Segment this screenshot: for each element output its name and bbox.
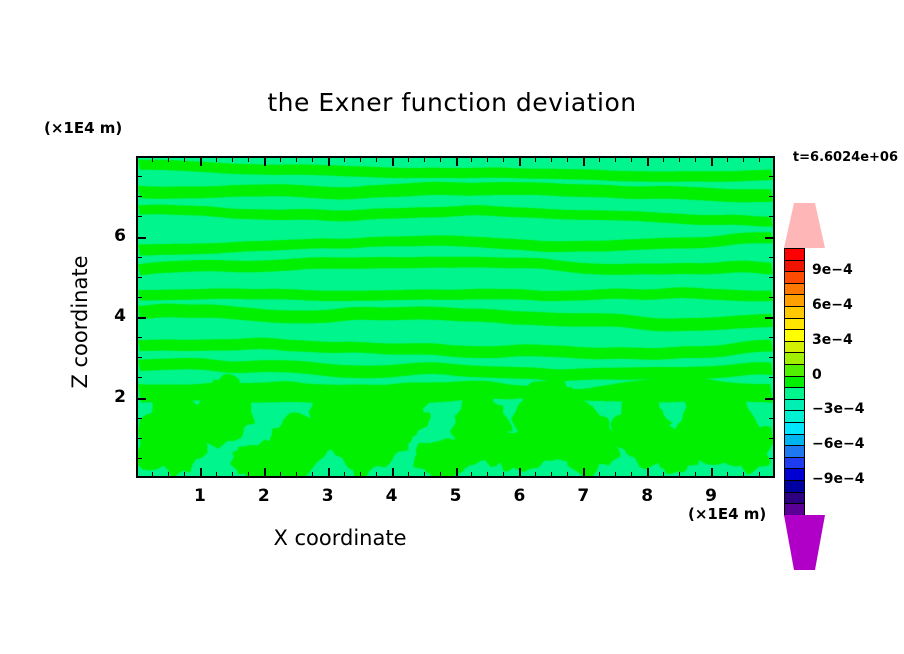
y-minor-tick-right: [769, 257, 774, 258]
colorbar-label: 6e−4: [812, 297, 853, 313]
x-minor-tick: [599, 472, 600, 477]
x-minor-tick: [615, 472, 616, 477]
x-tick-label: 7: [563, 486, 603, 506]
x-minor-tick-top: [599, 157, 600, 162]
x-major-tick-top: [200, 157, 202, 166]
x-axis-unit-label: (×1E4 m): [688, 505, 766, 523]
x-minor-tick: [232, 472, 233, 477]
x-minor-tick: [695, 472, 696, 477]
y-minor-tick: [137, 357, 142, 358]
x-tick-label: 8: [627, 486, 667, 506]
contour-plot-area: [136, 156, 775, 478]
x-minor-tick: [759, 472, 760, 477]
colorbar-label: 9e−4: [812, 262, 853, 278]
x-minor-tick-top: [440, 157, 441, 162]
x-major-tick: [328, 468, 330, 477]
x-minor-tick: [312, 472, 313, 477]
x-minor-tick-top: [631, 157, 632, 162]
y-major-tick: [137, 237, 146, 239]
colorbar-overflow-arrow: [784, 203, 825, 248]
x-major-tick-top: [456, 157, 458, 166]
x-minor-tick-top: [168, 157, 169, 162]
x-minor-tick: [408, 472, 409, 477]
x-major-tick: [647, 468, 649, 477]
x-minor-tick-top: [376, 157, 377, 162]
y-minor-tick: [137, 418, 142, 419]
y-minor-tick: [137, 196, 142, 197]
x-major-tick-top: [583, 157, 585, 166]
y-tick-label: 2: [96, 387, 126, 407]
x-tick-label: 3: [308, 486, 348, 506]
x-major-tick-top: [328, 157, 330, 166]
colorbar-label: −9e−4: [812, 471, 864, 487]
y-minor-tick: [137, 176, 142, 177]
x-minor-tick-top: [424, 157, 425, 162]
y-major-tick-right: [765, 317, 774, 319]
x-tick-label: 2: [244, 486, 284, 506]
y-minor-tick-right: [769, 176, 774, 177]
y-minor-tick-right: [769, 438, 774, 439]
y-tick-label: 6: [96, 226, 126, 246]
x-minor-tick: [440, 472, 441, 477]
colorbar-label: 3e−4: [812, 332, 853, 348]
y-minor-tick-right: [769, 277, 774, 278]
x-minor-tick: [487, 472, 488, 477]
x-minor-tick-top: [216, 157, 217, 162]
x-major-tick: [392, 468, 394, 477]
x-minor-tick: [679, 472, 680, 477]
y-minor-tick-right: [769, 458, 774, 459]
y-minor-tick-right: [769, 216, 774, 217]
y-tick-label: 4: [96, 306, 126, 326]
y-minor-tick-right: [769, 357, 774, 358]
x-minor-tick: [376, 472, 377, 477]
x-minor-tick-top: [743, 157, 744, 162]
x-minor-tick-top: [487, 157, 488, 162]
x-minor-tick: [360, 472, 361, 477]
x-minor-tick: [280, 472, 281, 477]
x-minor-tick-top: [567, 157, 568, 162]
x-minor-tick-top: [344, 157, 345, 162]
x-minor-tick-top: [503, 157, 504, 162]
x-minor-tick-top: [759, 157, 760, 162]
x-minor-tick: [567, 472, 568, 477]
x-minor-tick-top: [408, 157, 409, 162]
x-minor-tick-top: [248, 157, 249, 162]
x-tick-label: 4: [372, 486, 412, 506]
x-major-tick-top: [392, 157, 394, 166]
y-minor-tick: [137, 277, 142, 278]
y-major-tick: [137, 317, 146, 319]
x-major-tick-top: [264, 157, 266, 166]
x-minor-tick-top: [535, 157, 536, 162]
page-title: the Exner function deviation: [0, 88, 904, 117]
x-major-tick: [711, 468, 713, 477]
x-major-tick: [583, 468, 585, 477]
y-minor-tick: [137, 337, 142, 338]
x-axis-title: X coordinate: [0, 526, 680, 550]
x-tick-label: 5: [436, 486, 476, 506]
y-minor-tick-right: [769, 418, 774, 419]
x-minor-tick-top: [152, 157, 153, 162]
x-major-tick-top: [647, 157, 649, 166]
x-minor-tick: [296, 472, 297, 477]
y-minor-tick: [137, 257, 142, 258]
x-major-tick: [264, 468, 266, 477]
timestamp-annotation: t=6.6024e+06: [793, 150, 898, 165]
x-major-tick: [200, 468, 202, 477]
x-minor-tick: [216, 472, 217, 477]
x-major-tick: [519, 468, 521, 477]
colorbar-label: −3e−4: [812, 401, 864, 417]
x-minor-tick-top: [615, 157, 616, 162]
x-minor-tick-top: [232, 157, 233, 162]
colorbar-underflow-arrow: [784, 515, 825, 570]
contour-field: [138, 158, 773, 476]
y-minor-tick: [137, 438, 142, 439]
y-major-tick: [137, 398, 146, 400]
x-minor-tick: [344, 472, 345, 477]
x-minor-tick-top: [695, 157, 696, 162]
x-minor-tick-top: [679, 157, 680, 162]
x-minor-tick-top: [184, 157, 185, 162]
x-minor-tick-top: [296, 157, 297, 162]
y-minor-tick: [137, 297, 142, 298]
x-minor-tick: [631, 472, 632, 477]
y-minor-tick-right: [769, 297, 774, 298]
x-minor-tick: [535, 472, 536, 477]
x-minor-tick: [248, 472, 249, 477]
y-major-tick-right: [765, 398, 774, 400]
x-minor-tick: [168, 472, 169, 477]
x-minor-tick: [152, 472, 153, 477]
y-minor-tick-right: [769, 337, 774, 338]
x-tick-label: 1: [180, 486, 220, 506]
y-minor-tick-right: [769, 196, 774, 197]
y-minor-tick: [137, 458, 142, 459]
x-minor-tick-top: [280, 157, 281, 162]
x-tick-label: 9: [691, 486, 731, 506]
x-minor-tick: [184, 472, 185, 477]
x-minor-tick: [743, 472, 744, 477]
x-minor-tick: [503, 472, 504, 477]
colorbar-label: 0: [812, 367, 822, 383]
colorbar: 9e−46e−43e−40−3e−4−6e−4−9e−4: [780, 203, 806, 523]
x-major-tick: [456, 468, 458, 477]
x-tick-label: 6: [499, 486, 539, 506]
y-axis-unit-label: (×1E4 m): [44, 119, 122, 137]
x-minor-tick: [424, 472, 425, 477]
y-minor-tick: [137, 377, 142, 378]
x-minor-tick-top: [663, 157, 664, 162]
x-major-tick-top: [519, 157, 521, 166]
x-minor-tick: [471, 472, 472, 477]
y-major-tick-right: [765, 237, 774, 239]
x-minor-tick-top: [551, 157, 552, 162]
x-minor-tick-top: [360, 157, 361, 162]
colorbar-label: −6e−4: [812, 436, 864, 452]
y-minor-tick: [137, 216, 142, 217]
x-minor-tick-top: [727, 157, 728, 162]
x-minor-tick: [663, 472, 664, 477]
y-axis-title: Z coordinate: [68, 222, 92, 422]
x-minor-tick-top: [471, 157, 472, 162]
x-minor-tick: [727, 472, 728, 477]
x-major-tick-top: [711, 157, 713, 166]
y-minor-tick-right: [769, 377, 774, 378]
x-minor-tick: [551, 472, 552, 477]
x-minor-tick-top: [312, 157, 313, 162]
